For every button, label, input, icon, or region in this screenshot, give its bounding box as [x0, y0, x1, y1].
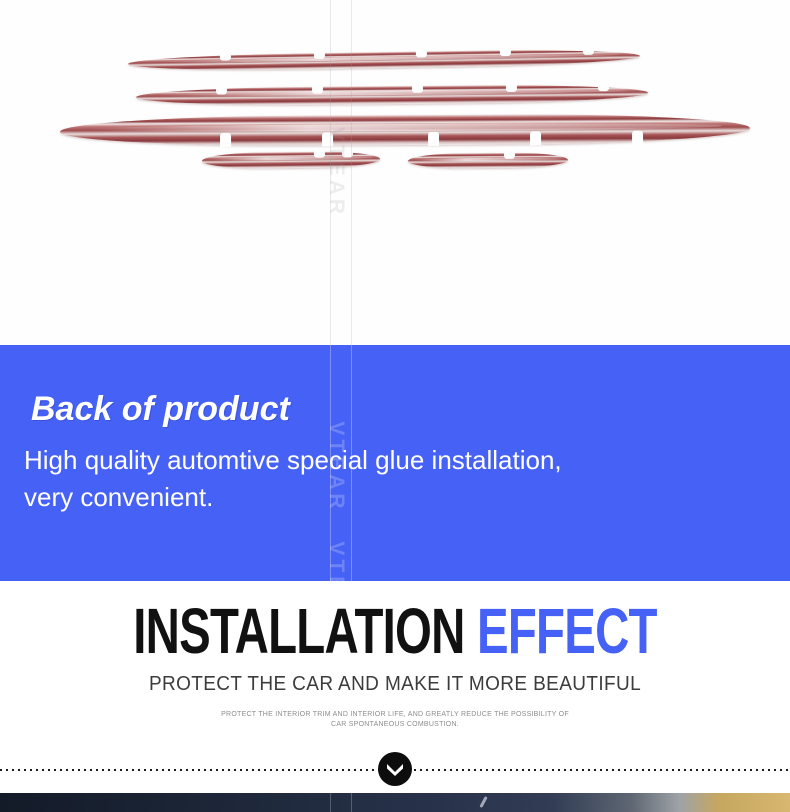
trim-notch	[416, 50, 427, 58]
bottom-photo-image	[0, 793, 790, 812]
trim-notch	[583, 48, 594, 56]
trim-notch	[220, 133, 231, 147]
chevron-down-icon	[385, 762, 405, 776]
trim-piece-3	[60, 113, 750, 147]
trim-piece-surface	[136, 84, 648, 106]
watermark-rule-right	[351, 793, 352, 812]
section-divider	[0, 748, 790, 793]
product-photo-band: VTEAR	[0, 0, 790, 345]
trim-notch	[220, 53, 231, 61]
effect-fine-print: PROTECT THE INTERIOR TRIM AND INTERIOR L…	[0, 710, 790, 730]
panel-heading: Back of product	[31, 390, 290, 429]
watermark-rule-right	[351, 0, 352, 345]
trim-piece-5	[408, 152, 568, 168]
trim-notch	[504, 152, 515, 159]
panel-body-line-2: very convenient.	[24, 479, 744, 516]
trim-notch	[506, 84, 517, 92]
trim-notch	[412, 85, 423, 93]
trim-notch	[312, 86, 323, 94]
effect-subheadline: PROTECT THE CAR AND MAKE IT MORE BEAUTIF…	[20, 673, 771, 696]
effect-headline: INSTALLATION EFFECT	[103, 599, 688, 663]
panel-body-line-1: High quality automtive special glue inst…	[24, 442, 744, 479]
back-of-product-panel: VTEAR VTEAR Back of product High quality…	[0, 345, 790, 581]
bottom-photo-strip	[0, 793, 790, 812]
effect-fine-print-line-1: PROTECT THE INTERIOR TRIM AND INTERIOR L…	[0, 710, 790, 720]
trim-notch	[216, 86, 227, 94]
trim-piece-surface	[408, 152, 568, 168]
panel-body: High quality automtive special glue inst…	[24, 442, 744, 516]
watermark-rule-left	[330, 793, 331, 812]
trim-piece-1	[128, 48, 640, 72]
trim-notch	[632, 131, 643, 145]
trim-notch	[428, 132, 439, 146]
effect-headline-accent: EFFECT	[477, 595, 657, 667]
trim-piece-2	[136, 84, 648, 106]
photo-watermark: VTEAR	[324, 0, 348, 345]
trim-piece-surface	[60, 113, 750, 147]
trim-piece-surface	[202, 151, 380, 169]
scroll-down-button[interactable]	[378, 752, 412, 786]
trim-piece-4	[202, 151, 380, 169]
trim-notch	[500, 49, 511, 57]
trim-notch	[598, 83, 609, 91]
trim-notch	[530, 131, 541, 145]
trim-piece-surface	[128, 48, 640, 72]
effect-fine-print-line-2: CAR SPONTANEOUS COMBUSTION.	[0, 720, 790, 730]
installation-effect-section: INSTALLATION EFFECT PROTECT THE CAR AND …	[0, 581, 790, 748]
product-detail-page: VTEAR VTEAR VTEAR Back of product High q…	[0, 0, 790, 812]
effect-headline-primary: INSTALLATION	[133, 595, 464, 667]
